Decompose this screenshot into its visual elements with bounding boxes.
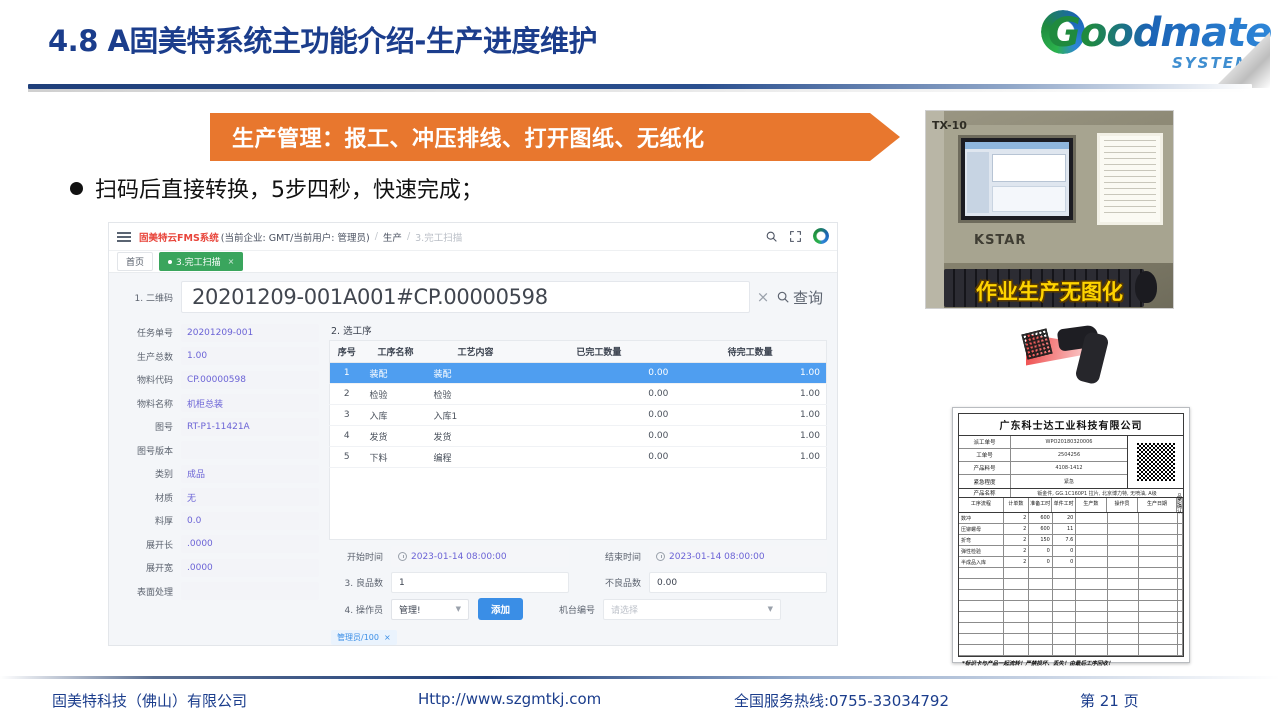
paper-cell [1076,623,1107,633]
field-value[interactable]: 机柜总装 [181,394,319,412]
form-row: 类别成品 [119,462,319,486]
start-time-value: 2023-01-14 08:00:00 [411,552,507,562]
paper-cell [959,623,1004,633]
operator-selected-value: 管理! [399,603,421,616]
paper-cell: 数冲 [959,513,1004,523]
banner-arrow-shape: 生产管理：报工、冲压排线、打开图纸、无纸化 [210,113,900,161]
paper-grid-row [959,612,1183,623]
paper-value: 4108-1412 [1011,462,1127,474]
process-panel: 2. 选工序 序号 工序名称 工艺内容 已完工数量 待完工数量 1 装配 [329,321,827,646]
footer-company: 固美特科技（佛山）有限公司 [52,690,247,711]
paper-cell [1178,634,1183,644]
banner-label: 生产管理：报工、冲压排线、打开图纸、无纸化 [210,121,705,153]
chip-close-icon[interactable]: × [384,633,391,642]
end-time-field[interactable]: 2023-01-14 08:00:00 [649,546,827,567]
cell-no: 1 [330,363,364,384]
field-value[interactable]: .0000 [181,535,319,553]
cell-content: 装配 [428,363,524,384]
paper-cell [1004,579,1029,589]
paper-grid-row [959,590,1183,601]
paper-cell [1139,623,1178,633]
tab-close-icon[interactable]: × [228,257,235,266]
paper-cell [1108,579,1139,589]
operator-chip-label: 管理员/100 [337,632,379,643]
time-row: 开始时间 2023-01-14 08:00:00 结束时间 2023-01-14… [329,546,827,567]
paper-key: 产品名称 [959,489,1011,497]
footer-url[interactable]: Http://www.szgmtkj.com [418,690,601,708]
paper-cell [1108,590,1139,600]
cell-name: 检验 [364,384,428,405]
monitor-screen [965,142,1069,216]
tab-active-dot-icon [168,260,172,264]
paper-header-row: 派工单号WPO20180320006 [959,436,1127,449]
app-topbar: 固美特云FMS系统 (当前企业: GMT/当前用户: 管理员) / 生产 / 3… [109,223,837,251]
paper-sheet: 广东科士达工业科技有限公司 派工单号WPO20180320006 工单号2504… [958,413,1184,657]
clear-icon[interactable]: × [750,288,776,306]
paper-cell [1076,601,1107,611]
column-header-no: 序号 [330,341,364,363]
paper-grid-row: 半成品入库200 [959,557,1183,568]
app-body: 任务单号20201209-001 生产总数1.00 物料代码CP.0000059… [109,319,837,646]
paper-header-rows: 派工单号WPO20180320006 工单号2504256 产品料号4108-1… [959,436,1127,488]
cell-no: 5 [330,447,364,468]
machine-placeholder: 请选择 [611,603,638,616]
paper-cell [1139,568,1178,578]
field-value[interactable]: 1.00 [181,347,319,365]
paper-cell [1053,623,1077,633]
column-header-done: 已完工数量 [524,341,675,363]
form-row: 生产总数1.00 [119,345,319,369]
start-time-field[interactable]: 2023-01-14 08:00:00 [391,546,569,567]
paper-cell: 0 [1029,557,1053,567]
fullscreen-icon[interactable] [789,230,802,243]
paper-cell: 压铆螺母 [959,524,1004,534]
field-value[interactable]: 20201209-001 [181,324,319,342]
paper-cell [959,568,1004,578]
terminal-panel: KSTAR [944,125,1174,263]
field-value[interactable]: RT-P1-11421A [181,418,319,436]
paper-cell [1178,546,1183,556]
paper-cell [1076,557,1107,567]
paper-cell [1029,579,1053,589]
cell-todo: 1.00 [674,426,826,447]
paper-grid-row [959,601,1183,612]
paper-cell [1139,524,1178,534]
form-row: 物料代码CP.00000598 [119,368,319,392]
paper-cell [1178,579,1183,589]
form-row: 图号RT-P1-11421A [119,415,319,439]
paper-product-row: 产品名称 钣金件, GG.1C160P1 拉片, 北京博力特, 无喷油, A级 [959,489,1183,498]
paper-cell [1076,612,1107,622]
chevron-down-icon: ▼ [456,605,461,613]
scan-input-row: 1. 二维码 20201209-001A001#CP.00000598 × 查询 [109,273,837,319]
terminal-tx-label: TX-10 [932,119,967,132]
paper-col-header: 工序流程 [959,498,1004,512]
bad-qty-label: 不良品数 [587,576,649,589]
paper-header-block: 派工单号WPO20180320006 工单号2504256 产品料号4108-1… [959,436,1183,489]
paper-cell [1178,535,1183,545]
cell-name: 入库 [364,405,428,426]
table-row[interactable]: 3 入库 入库1 0.00 1.00 [330,405,827,426]
paper-grid-row: 弹性检验200 [959,546,1183,557]
field-value[interactable]: 0.0 [181,512,319,530]
process-section-title: 2. 选工序 [331,323,827,337]
field-value[interactable] [181,441,319,459]
bad-qty-input[interactable]: 0.00 [649,572,827,593]
table-row[interactable]: 1 装配 装配 0.00 1.00 [330,363,827,384]
paper-col-header: 单件工时 [1052,498,1075,512]
tab-finish-scan-label: 3.完工扫描 [176,255,221,268]
start-time-label: 开始时间 [329,550,391,563]
field-label: 图号版本 [119,444,181,457]
field-label: 表面处理 [119,585,181,598]
operator-chip[interactable]: 管理员/100 × [331,630,397,645]
footer-divider [0,676,1280,679]
field-label: 类别 [119,467,181,480]
cell-no: 3 [330,405,364,426]
paper-cell [1178,513,1183,523]
column-header-todo: 待完工数量 [674,341,826,363]
field-value[interactable] [181,582,319,600]
paper-cell [1139,645,1178,655]
posted-paper-document [1097,133,1163,225]
field-label: 展开长 [119,538,181,551]
paper-cell [1076,634,1107,644]
paper-qr-cell [1127,436,1183,488]
paper-cell [959,579,1004,589]
paper-cell: 半成品入库 [959,557,1004,567]
cell-content: 检验 [428,384,524,405]
column-header-name: 工序名称 [364,341,428,363]
paper-cell [959,634,1004,644]
paper-cell [1004,612,1029,622]
screen-sidebar [967,152,989,213]
tab-finish-scan[interactable]: 3.完工扫描 × [159,252,243,271]
monitor-brand-label: KSTAR [974,233,1026,248]
app-tab-bar: 首页 3.完工扫描 × [109,251,837,273]
field-label: 料厚 [119,514,181,527]
search-button[interactable]: 查询 [776,287,827,308]
bullet-item: 扫码后直接转换，5步四秒，快速完成； [70,172,483,204]
order-detail-form: 任务单号20201209-001 生产总数1.00 物料代码CP.0000059… [119,321,319,646]
paper-grid-row [959,645,1183,656]
action-button-row: 5. 完 工 打开图档 打印标签 [329,645,827,646]
tab-home[interactable]: 首页 [117,252,153,271]
paper-grid-row: 折弯21507.6 [959,535,1183,546]
logo-wordmark: Goodmate [1048,10,1271,56]
field-value[interactable]: .0000 [181,559,319,577]
paper-cell [1053,645,1077,655]
paper-grid-row: 压铆螺母260011 [959,524,1183,535]
paper-header-row: 工单号2504256 [959,449,1127,462]
breadcrumb-separator-2: / [407,231,410,242]
paper-cell [1178,590,1183,600]
field-label: 展开宽 [119,561,181,574]
column-header-content: 工艺内容 [428,341,524,363]
paper-grid-row [959,568,1183,579]
paper-cell: 600 [1029,513,1053,523]
paper-cell [1076,579,1107,589]
paper-cell: 0 [1053,546,1077,556]
paper-footer-note: *标识卡与产品一起流转！严禁损坏、丢失！由最后工序回收！ [959,656,1183,669]
paper-cell [1029,601,1053,611]
paper-cell [1139,579,1178,589]
paper-col-header: 生产日期 [1138,498,1177,512]
paper-process-grid: 工序流程 计单数 准备工时 单件工时 生产数 操作员 生产日期 品质确认 数冲2… [959,498,1183,656]
field-label: 图号 [119,420,181,433]
paper-cell [1139,590,1178,600]
quantity-row: 3. 良品数 1 不良品数 0.00 [329,572,827,593]
cell-name: 下料 [364,447,428,468]
slide-header: 4.8 A固美特系统主功能介绍-生产进度维护 Goodmate SYSTEM [0,0,1280,88]
photo-paper-traveler: 广东科士达工业科技有限公司 派工单号WPO20180320006 工单号2504… [952,407,1190,663]
paper-col-header: 准备工时 [1029,498,1052,512]
paper-cell [1029,645,1053,655]
cell-name: 发货 [364,426,428,447]
paper-cell: 600 [1029,524,1053,534]
paper-cell [1139,513,1178,523]
completion-fields: 开始时间 2023-01-14 08:00:00 结束时间 2023-01-14… [329,546,827,645]
paper-cell [1029,612,1053,622]
paper-cell [1178,645,1183,655]
paper-value: 2504256 [1011,449,1127,461]
paper-key: 紧急程度 [959,475,1011,488]
paper-cell [1053,590,1077,600]
paper-cell: 2 [1004,546,1029,556]
photo-shopfloor-terminal: KSTAR TX-10 作业生产无图化 [925,110,1174,309]
brand-logo: Goodmate SYSTEM [1030,2,1270,86]
paper-col-header: 计单数 [1004,498,1029,512]
field-label: 材质 [119,491,181,504]
footer-hotline: 全国服务热线:0755-33034792 [734,690,949,711]
cell-done: 0.00 [524,384,675,405]
cell-done: 0.00 [524,363,675,384]
paper-key: 工单号 [959,449,1011,461]
paper-cell [1029,568,1053,578]
paper-cell: 7.6 [1053,535,1077,545]
paper-cell [959,612,1004,622]
good-qty-label: 3. 良品数 [329,576,391,589]
paper-cell [1053,601,1077,611]
form-row: 料厚0.0 [119,509,319,533]
paper-company-title: 广东科士达工业科技有限公司 [959,414,1183,436]
cell-todo: 1.00 [674,363,826,384]
scan-input-label: 1. 二维码 [119,291,181,304]
paper-cell [1108,557,1139,567]
field-label: 物料代码 [119,373,181,386]
end-time-label: 结束时间 [587,550,649,563]
paper-cell: 2 [1004,535,1029,545]
cell-content: 编程 [428,447,524,468]
field-label: 物料名称 [119,397,181,410]
paper-cell [1108,634,1139,644]
paper-cell [1108,568,1139,578]
form-row: 表面处理 [119,580,319,604]
search-glass-icon [776,290,790,304]
paper-cell [1139,535,1178,545]
slide-footer: 固美特科技（佛山）有限公司 Http://www.szgmtkj.com 全国服… [0,686,1280,720]
bullet-text: 扫码后直接转换，5步四秒，快速完成； [95,172,483,204]
paper-cell [1178,601,1183,611]
paper-cell [1139,601,1178,611]
cell-done: 0.00 [524,426,675,447]
search-icon[interactable] [765,230,778,243]
form-row: 材质无 [119,486,319,510]
paper-cell: 2 [1004,524,1029,534]
cell-content: 发货 [428,426,524,447]
table-row[interactable]: 4 发货 发货 0.00 1.00 [330,426,827,447]
operator-select[interactable]: 管理! ▼ [391,599,469,620]
form-row: 图号版本 [119,439,319,463]
end-time-value: 2023-01-14 08:00:00 [669,552,765,562]
form-row: 展开长.0000 [119,533,319,557]
paper-grid-row [959,623,1183,634]
paper-value: 紧急 [1011,475,1127,488]
paper-col-header: 品质确认 [1177,498,1183,512]
field-label: 生产总数 [119,350,181,363]
paper-cell [1108,601,1139,611]
form-row: 展开宽.0000 [119,556,319,580]
paper-cell [1076,535,1107,545]
footer-page-number: 第 21 页 [1080,690,1139,711]
paper-cell [1108,612,1139,622]
paper-grid-header: 工序流程 计单数 准备工时 单件工时 生产数 操作员 生产日期 品质确认 [959,498,1183,513]
field-value[interactable]: 成品 [181,465,319,483]
paper-cell [1178,557,1183,567]
paper-cell [1139,612,1178,622]
app-logo-icon[interactable] [813,228,829,244]
paper-cell [1076,524,1107,534]
cell-content: 入库1 [428,405,524,426]
photo-caption: 作业生产无图化 [926,276,1173,306]
screen-titlebar [965,142,1069,149]
good-qty-input[interactable]: 1 [391,572,569,593]
screen-content-area [992,186,1066,212]
paper-cell: 2 [1004,513,1029,523]
machine-select[interactable]: 请选择 ▼ [603,599,781,620]
paper-cell [1053,568,1077,578]
breadcrumb-current: 3.完工扫描 [415,230,462,244]
paper-cell [1076,546,1107,556]
paper-cell [1053,612,1077,622]
header-divider [28,84,1252,89]
cell-todo: 1.00 [674,405,826,426]
paper-cell: 0 [1029,546,1053,556]
breadcrumb-link-production[interactable]: 生产 [383,230,402,244]
paper-cell [1004,634,1029,644]
cell-name: 装配 [364,363,428,384]
paper-cell [959,590,1004,600]
app-context-label: (当前企业: GMT/当前用户: 管理员) [221,230,370,244]
paper-cell [1139,546,1178,556]
paper-cell: 折弯 [959,535,1004,545]
chevron-down-icon: ▼ [768,605,773,613]
section-banner: 生产管理：报工、冲压排线、打开图纸、无纸化 [210,113,920,161]
paper-cell [1076,590,1107,600]
terminal-monitor [958,135,1076,223]
page-title: 4.8 A固美特系统主功能介绍-生产进度维护 [48,18,597,60]
paper-cell [1139,557,1178,567]
paper-cell [1004,623,1029,633]
add-operator-button[interactable]: 添加 [478,598,523,620]
cell-todo: 1.00 [674,384,826,405]
paper-cell [1004,645,1029,655]
paper-cell [1178,524,1183,534]
paper-grid-row: 数冲260020 [959,513,1183,524]
paper-cell [1029,634,1053,644]
paper-cell [1004,601,1029,611]
paper-cell [1053,579,1077,589]
form-row: 任务单号20201209-001 [119,321,319,345]
paper-cell [1108,645,1139,655]
paper-cell: 20 [1053,513,1077,523]
paper-cell [1178,568,1183,578]
cell-done: 0.00 [524,447,675,468]
cell-no: 4 [330,426,364,447]
operator-row: 4. 操作员 管理! ▼ 添加 机台编号 请选择 ▼ [329,598,827,620]
table-row[interactable]: 5 下料 编程 0.00 1.00 [330,447,827,468]
menu-hamburger-icon[interactable] [117,232,131,242]
paper-grid-row [959,634,1183,645]
embedded-app-screenshot: 固美特云FMS系统 (当前企业: GMT/当前用户: 管理员) / 生产 / 3… [108,222,838,646]
qr-code-icon [1137,443,1175,481]
paper-cell [959,601,1004,611]
field-value[interactable]: 无 [181,488,319,506]
paper-text-lines [1104,140,1156,218]
table-header-row: 序号 工序名称 工艺内容 已完工数量 待完工数量 [330,341,827,363]
cell-todo: 1.00 [674,447,826,468]
paper-value: WPO20180320006 [1011,436,1127,448]
scan-input[interactable]: 20201209-001A001#CP.00000598 [181,281,750,313]
paper-cell [1004,568,1029,578]
paper-cell [1108,535,1139,545]
paper-cell [1004,590,1029,600]
bullet-dot-icon [70,182,83,195]
table-row[interactable]: 2 检验 检验 0.00 1.00 [330,384,827,405]
paper-key: 产品料号 [959,462,1011,474]
cell-done: 0.00 [524,405,675,426]
search-button-label: 查询 [793,287,823,308]
paper-cell [1178,623,1183,633]
paper-cell [1029,590,1053,600]
paper-cell [1108,623,1139,633]
paper-key: 派工单号 [959,436,1011,448]
paper-cell: 0 [1053,557,1077,567]
machine-label: 机台编号 [541,603,603,616]
field-value[interactable]: CP.00000598 [181,371,319,389]
paper-cell [1029,623,1053,633]
field-label: 任务单号 [119,326,181,339]
paper-cell [1053,634,1077,644]
operator-label: 4. 操作员 [329,603,391,616]
topbar-icon-group [765,228,829,244]
photo-barcode-scanner [1010,317,1118,401]
paper-cell: 弹性检验 [959,546,1004,556]
paper-cell [1108,513,1139,523]
paper-cell [1139,634,1178,644]
paper-grid-row [959,579,1183,590]
paper-value: 钣金件, GG.1C160P1 拉片, 北京博力特, 无喷油, A级 [1011,489,1183,497]
paper-cell: 2 [1004,557,1029,567]
paper-cell [1108,546,1139,556]
paper-cell [959,645,1004,655]
paper-cell [1178,612,1183,622]
paper-header-row: 产品料号4108-1412 [959,462,1127,475]
paper-header-row: 紧急程度紧急 [959,475,1127,488]
paper-inner [1100,136,1160,222]
form-row: 物料名称机柜总装 [119,392,319,416]
paper-cell: 11 [1053,524,1077,534]
